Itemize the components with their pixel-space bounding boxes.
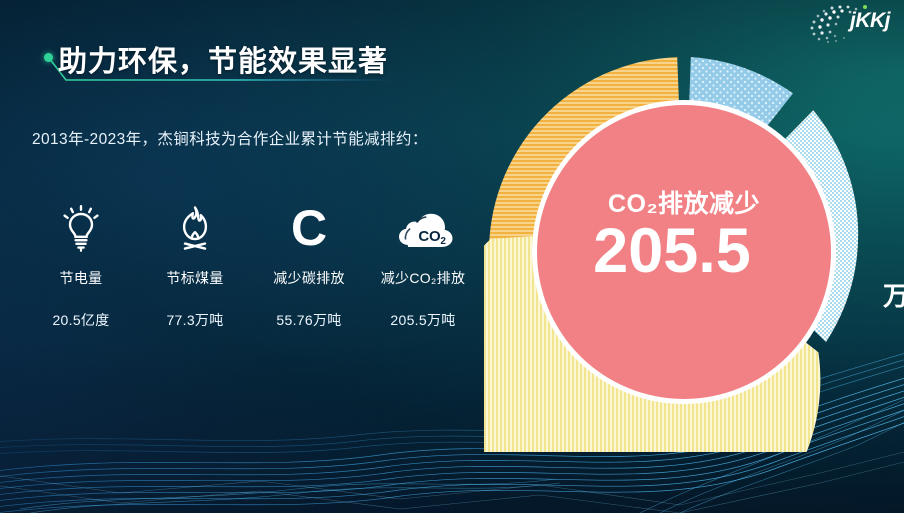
- stat-value: 20.5亿度: [52, 310, 109, 330]
- brand-logo[interactable]: jKKj: [800, 0, 904, 48]
- stat-value: 205.5万吨: [390, 310, 455, 330]
- title-bullet-dot: [44, 53, 53, 62]
- svg-text:C: C: [291, 201, 327, 255]
- carbon-letter-c-icon: C: [284, 200, 334, 256]
- slide-canvas: jKKj 助力环保，节能效果显著 2013年-2023年，杰锏科技为合作企业累计…: [0, 0, 904, 513]
- intro-paragraph: 2013年-2023年，杰锏科技为合作企业累计节能减排约：: [32, 126, 482, 154]
- logo-wordmark: jKKj: [850, 10, 890, 31]
- lightbulb-icon: [59, 200, 103, 256]
- stat-label: 减少CO₂排放: [381, 268, 466, 288]
- stat-label: 减少碳排放: [273, 268, 345, 288]
- stat-item-coal-saved[interactable]: 节标煤量 77.3万吨: [138, 200, 252, 330]
- stat-item-carbon-reduced[interactable]: C 减少碳排放 55.76万吨: [252, 200, 366, 330]
- stat-label: 节电量: [60, 268, 103, 288]
- donut-segments: [484, 52, 884, 452]
- stats-row: 节电量 20.5亿度 节标煤量 77.3万吨 C 减少碳排放 55.76万吨: [24, 200, 480, 330]
- stat-value: 77.3万吨: [166, 310, 223, 330]
- stat-item-power-saved[interactable]: 节电量 20.5亿度: [24, 200, 138, 330]
- stat-item-co2-reduced[interactable]: CO2 减少CO₂排放 205.5万吨: [366, 200, 480, 330]
- co2-cloud-icon: CO2: [390, 200, 456, 256]
- donut-core-circle: [537, 105, 831, 399]
- co2-donut-chart[interactable]: CO₂排放减少 205.5 万吨: [484, 52, 884, 452]
- stat-label: 节标煤量: [166, 268, 223, 288]
- campfire-flame-icon: [172, 200, 218, 256]
- title-label: 助力环保，节能效果显著: [58, 38, 388, 80]
- stat-value: 55.76万吨: [276, 310, 341, 330]
- page-title: 助力环保，节能效果显著: [44, 40, 464, 86]
